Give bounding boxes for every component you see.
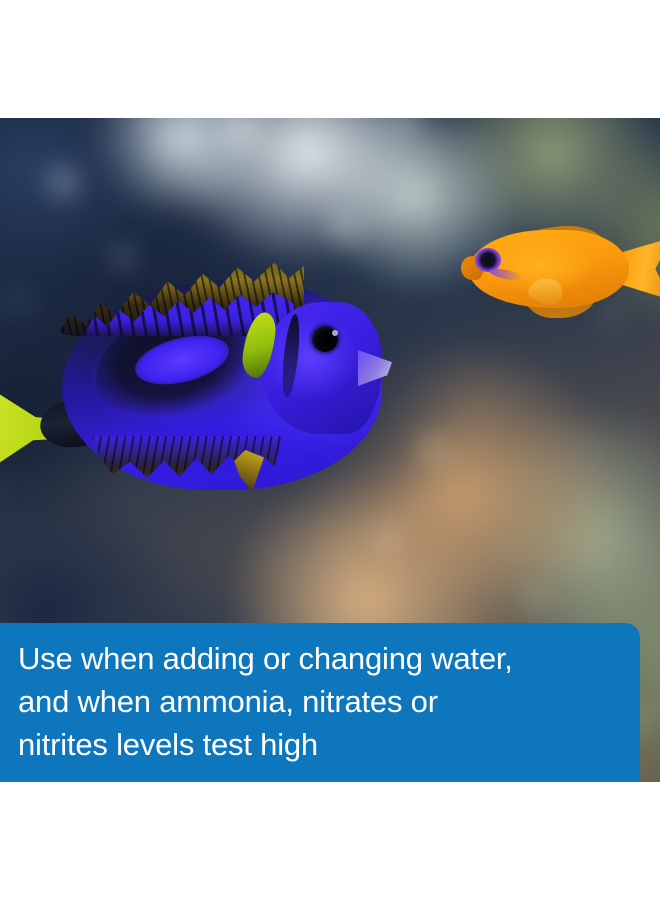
caption-text: Use when adding or changing water, and w… bbox=[18, 637, 620, 766]
product-feature-image: Use when adding or changing water, and w… bbox=[0, 0, 660, 900]
blue-tang-eye-highlight bbox=[332, 330, 338, 336]
blue-tang-fish bbox=[0, 258, 414, 506]
caption-banner: Use when adding or changing water, and w… bbox=[0, 623, 640, 782]
orange-anthias-fish bbox=[455, 218, 660, 328]
